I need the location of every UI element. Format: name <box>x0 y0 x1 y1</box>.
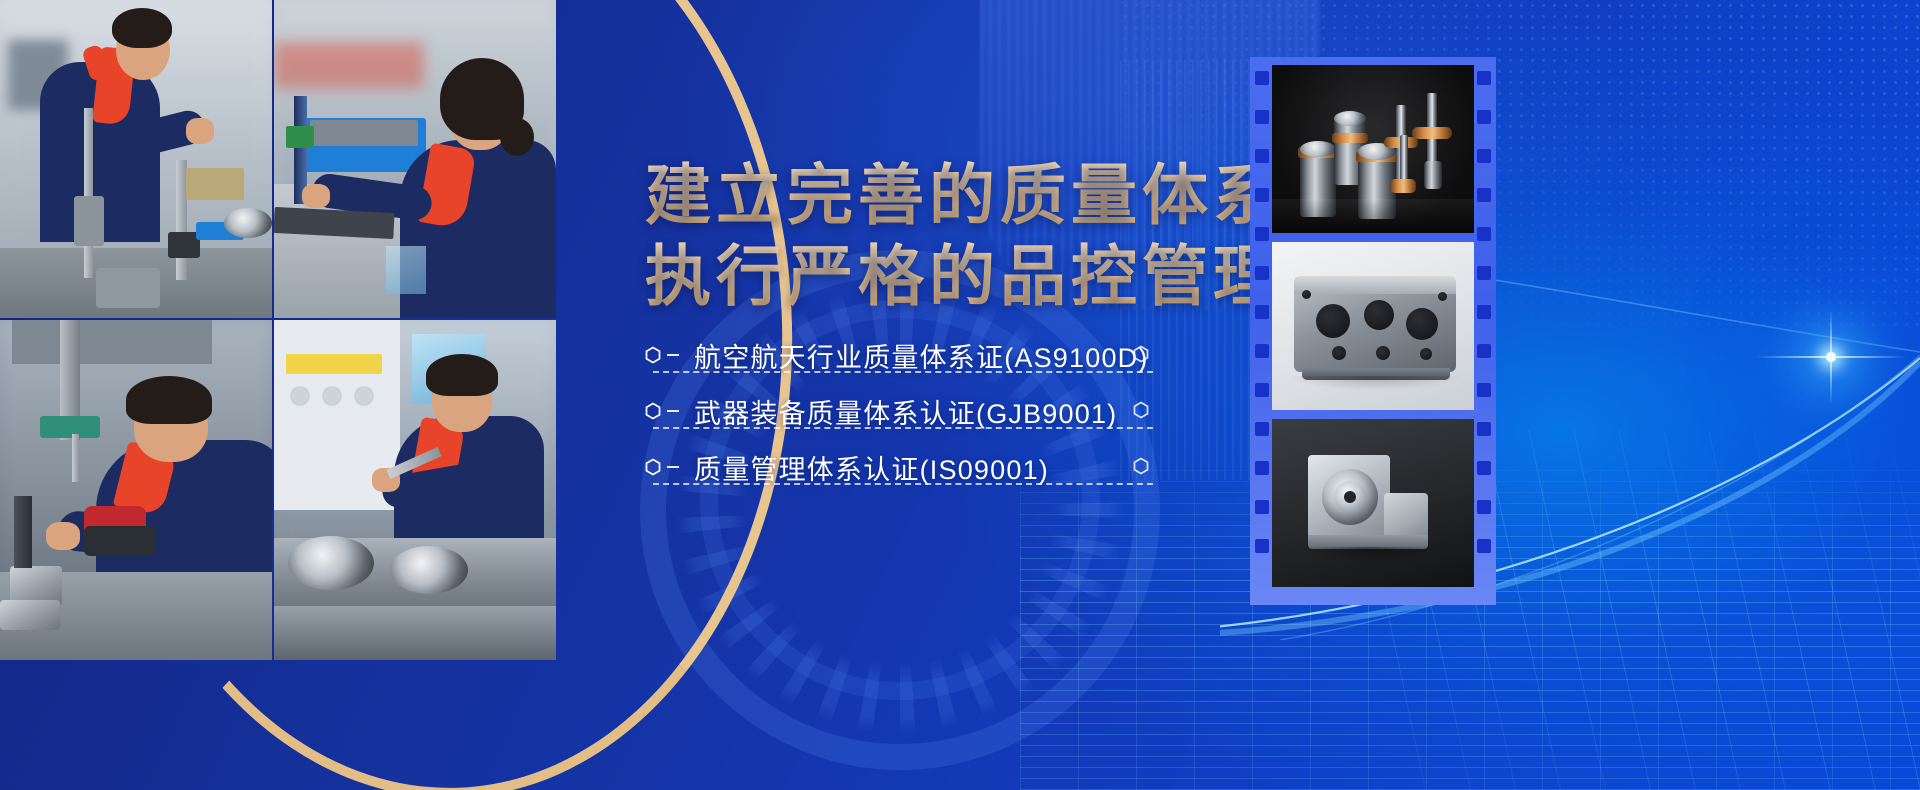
certification-item: 质量管理体系认证(IS09001) <box>645 439 1185 495</box>
filmstrip-perforations-right <box>1477 71 1491 591</box>
certification-item: 武器装备质量体系认证(GJB9001) <box>645 383 1185 439</box>
hexagon-bullet-icon <box>645 402 661 420</box>
headline-line-2: 执行严格的品控管理 <box>645 236 1284 317</box>
photo-operator-at-cnc-station <box>274 320 556 660</box>
certification-item: 航空航天行业质量体系证(AS9100D) <box>645 327 1185 383</box>
certification-divider <box>653 427 1153 429</box>
certification-divider <box>653 483 1153 485</box>
bullet-dash <box>667 466 679 468</box>
filmstrip-perforations-left <box>1255 71 1269 591</box>
quality-system-banner: 建立完善的质量体系 执行严格的品控管理 航空航天行业质量体系证(AS9100D)… <box>0 0 1920 790</box>
hexagon-bullet-icon <box>645 346 661 364</box>
light-flare-icon <box>1826 352 1836 362</box>
photo-engineer-at-cmm-machine <box>0 320 272 660</box>
product-photo-precision-shafts-and-bushings <box>1272 65 1474 233</box>
certification-label: 航空航天行业质量体系证(AS9100D) <box>694 336 1149 375</box>
product-photo-bearing-block-assembly <box>1272 419 1474 587</box>
hexagon-bullet-icon <box>645 458 661 476</box>
hexagon-end-marker-icon <box>1133 345 1149 363</box>
bullet-dash <box>667 354 679 356</box>
headline-line-1: 建立完善的质量体系 <box>645 155 1284 236</box>
certification-list: 航空航天行业质量体系证(AS9100D) 武器装备质量体系认证(GJB9001)… <box>645 327 1185 495</box>
hexagon-end-marker-icon <box>1133 457 1149 475</box>
photo-inspector-measuring-part <box>0 0 272 318</box>
certification-label: 质量管理体系认证(IS09001) <box>694 448 1049 487</box>
product-photo-aluminium-housing-block <box>1272 242 1474 410</box>
bullet-dash <box>667 410 679 412</box>
photo-technician-checking-components <box>274 0 556 318</box>
headline-block: 建立完善的质量体系 执行严格的品控管理 <box>645 155 1284 316</box>
product-filmstrip <box>1250 57 1496 605</box>
hexagon-end-marker-icon <box>1133 401 1149 419</box>
photo-collage <box>0 0 556 660</box>
certification-divider <box>653 371 1153 373</box>
certification-label: 武器装备质量体系认证(GJB9001) <box>694 392 1117 431</box>
